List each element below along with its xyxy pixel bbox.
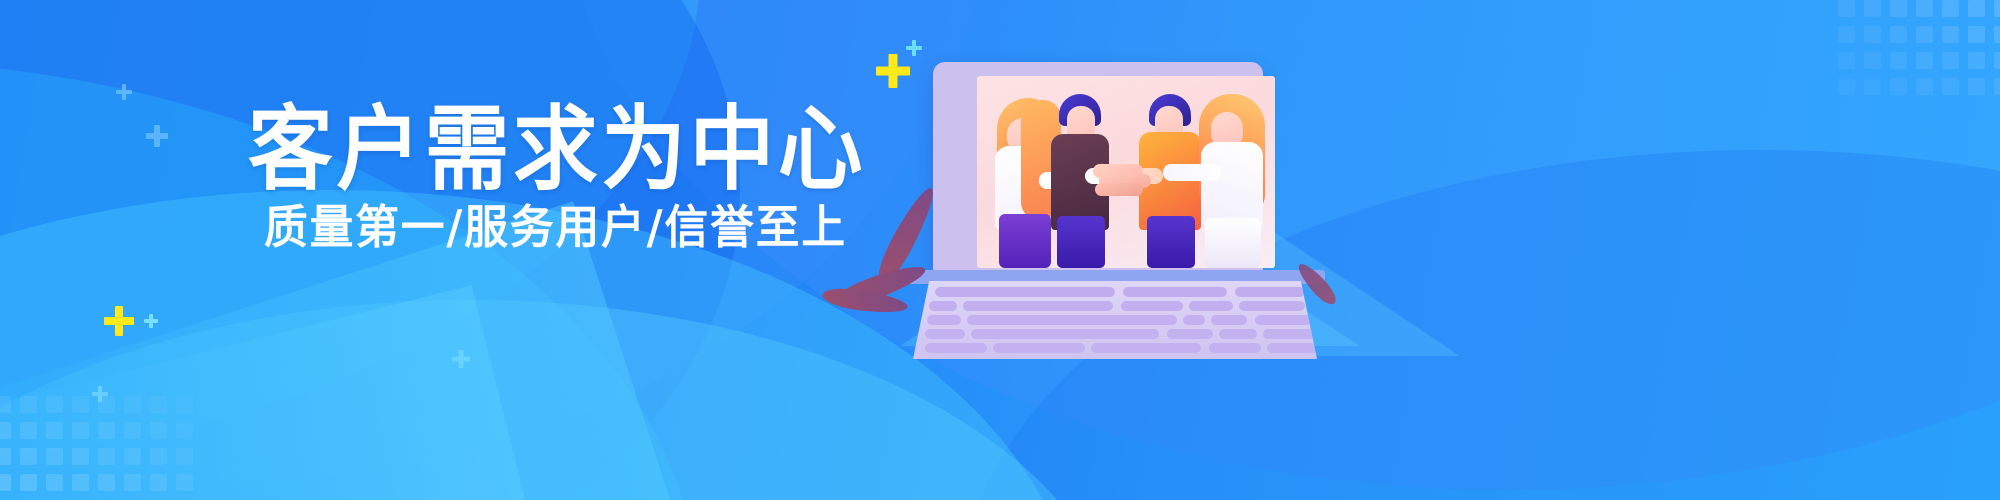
plus-cyan-mid-left-icon <box>146 125 168 147</box>
grid-square <box>176 422 193 439</box>
keyboard-key <box>1263 329 1317 339</box>
promo-banner: 客户需求为中心 质量第一/服务用户/信誉至上 <box>0 0 2000 500</box>
keyboard-key <box>1183 315 1205 325</box>
grid-square <box>98 474 115 491</box>
keyboard-key <box>967 315 1177 325</box>
laptop-screen <box>977 76 1275 268</box>
grid-square <box>1890 0 1907 17</box>
grid-square <box>176 396 193 413</box>
grid-square <box>1890 52 1907 69</box>
grid-square <box>0 474 11 491</box>
grid-square <box>1942 78 1959 95</box>
grid-square <box>72 422 89 439</box>
keyboard-key <box>925 343 987 353</box>
grid-square <box>72 448 89 465</box>
grid-square <box>72 396 89 413</box>
plus-cyan-near-laptop-icon <box>452 350 470 368</box>
grid-square <box>1838 0 1855 17</box>
grid-square <box>46 474 63 491</box>
grid-square <box>1838 26 1855 43</box>
grid-square <box>124 422 141 439</box>
grid-square <box>124 448 141 465</box>
keyboard-key <box>925 329 965 339</box>
keyboard-key <box>935 287 1115 297</box>
keyboard-key <box>1121 301 1183 311</box>
grid-square <box>20 422 37 439</box>
grid-square <box>72 474 89 491</box>
grid-square <box>1864 52 1881 69</box>
keyboard-key <box>1211 315 1247 325</box>
keyboard-key <box>1239 301 1305 311</box>
grid-square <box>1916 26 1933 43</box>
keyboard-key <box>1267 343 1323 353</box>
grid-square <box>1942 52 1959 69</box>
grid-square <box>98 448 115 465</box>
grid-square <box>20 474 37 491</box>
stacked-hands <box>1085 162 1171 196</box>
grid-square <box>1838 52 1855 69</box>
grid-square <box>1916 0 1933 17</box>
grid-square <box>1968 78 1985 95</box>
keyboard-key <box>929 301 957 311</box>
grid-square <box>1916 78 1933 95</box>
grid-square <box>46 448 63 465</box>
grid-square <box>1994 78 2000 95</box>
keyboard-key <box>971 329 1159 339</box>
keyboard-key <box>993 343 1085 353</box>
keyboard-key <box>1219 329 1257 339</box>
grid-square <box>0 448 11 465</box>
grid-square <box>1994 0 2000 17</box>
grid-square <box>150 396 167 413</box>
grid-square <box>176 448 193 465</box>
keyboard-key <box>1189 301 1233 311</box>
grid-square <box>150 422 167 439</box>
grid-square <box>150 474 167 491</box>
grid-square <box>1890 26 1907 43</box>
grid-square <box>46 396 63 413</box>
grid-square <box>0 422 11 439</box>
grid-square <box>1916 52 1933 69</box>
grid-square <box>1994 26 2000 43</box>
grid-square <box>150 448 167 465</box>
grid-square <box>98 422 115 439</box>
grid-square <box>124 396 141 413</box>
laptop-keyboard <box>913 281 1317 359</box>
grid-square <box>124 474 141 491</box>
keyboard-key <box>1123 287 1227 297</box>
grid-square <box>20 448 37 465</box>
grid-square <box>1864 78 1881 95</box>
plus-cyan-bottom-left-icon <box>144 314 158 328</box>
keyboard-key <box>1167 329 1213 339</box>
grid-square <box>1994 52 2000 69</box>
grid-square <box>1942 0 1959 17</box>
banner-subtitle: 质量第一/服务用户/信誉至上 <box>264 204 847 250</box>
grid-square <box>176 474 193 491</box>
keyboard-key <box>1255 315 1313 325</box>
grid-square <box>1864 26 1881 43</box>
laptop-lid <box>933 62 1263 274</box>
keyboard-key <box>927 315 961 325</box>
laptop-illustration <box>905 62 1325 362</box>
grid-square <box>46 422 63 439</box>
keyboard-key <box>963 301 1113 311</box>
plus-cyan-lower-mid-icon <box>92 386 108 402</box>
grid-square <box>0 396 11 413</box>
keyboard-key <box>1209 343 1261 353</box>
keyboard-key <box>1091 343 1201 353</box>
banner-headline: 客户需求为中心 <box>248 104 866 196</box>
grid-square <box>1942 26 1959 43</box>
plus-cyan-small-top-icon <box>906 40 922 56</box>
grid-square <box>1838 78 1855 95</box>
grid-square <box>1890 78 1907 95</box>
plus-cyan-upper-left-icon <box>116 84 132 100</box>
grid-square <box>1864 0 1881 17</box>
plus-yellow-bottom-left-icon <box>104 306 134 336</box>
grid-square <box>1968 0 1985 17</box>
keyboard-key <box>1235 287 1305 297</box>
grid-square <box>20 396 37 413</box>
grid-square <box>1968 26 1985 43</box>
grid-square <box>1968 52 1985 69</box>
